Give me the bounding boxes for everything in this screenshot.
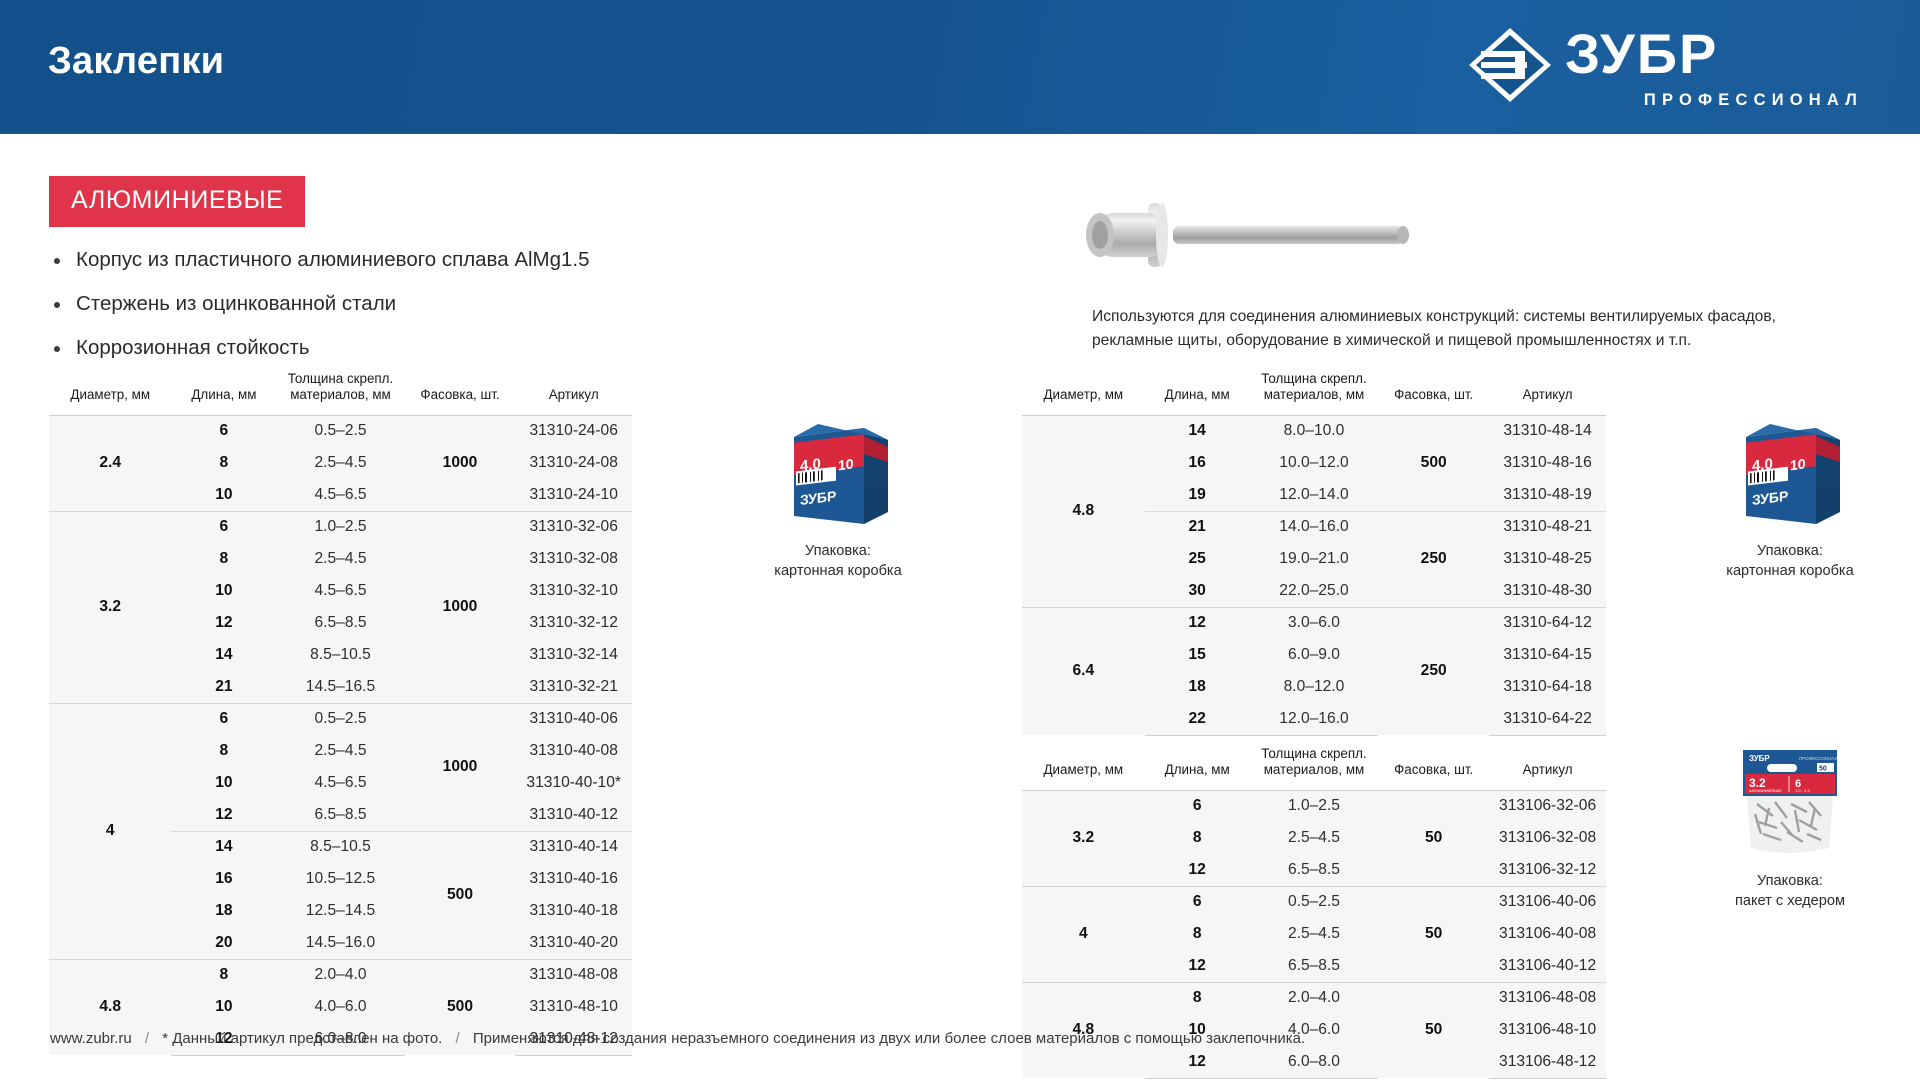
cell-length: 25: [1145, 543, 1250, 575]
cell-length: 8: [171, 735, 276, 767]
cell-thickness: 4.5–6.5: [276, 479, 404, 511]
cell-thickness: 10.5–12.5: [276, 863, 404, 895]
cell-diameter: 6.4: [1022, 607, 1145, 735]
package-caption: Упаковка: картонная коробка: [1690, 542, 1890, 582]
package-caption-line1: Упаковка:: [1690, 542, 1890, 562]
cell-thickness: 8.5–10.5: [276, 639, 404, 671]
package-caption-line1: Упаковка:: [1690, 872, 1890, 892]
cell-length: 6: [171, 415, 276, 447]
col-header-pack: Фасовка, шт.: [405, 367, 516, 415]
cell-length: 16: [1145, 447, 1250, 479]
cell-thickness: 6.0–8.0: [1250, 1046, 1378, 1078]
package-figure-carton-right: 4.0 10 ЗУБР Упаковка: картонная коробка: [1690, 412, 1890, 582]
svg-text:10: 10: [838, 456, 854, 474]
cell-article: 31310-48-19: [1489, 479, 1606, 511]
svg-text:ЗУБР: ЗУБР: [1565, 26, 1718, 84]
cell-thickness: 2.5–4.5: [1250, 918, 1378, 950]
cell-article: 313106-48-12: [1489, 1046, 1606, 1078]
cell-length: 10: [171, 575, 276, 607]
cell-thickness: 2.0–4.0: [276, 959, 404, 991]
package-caption: Упаковка: пакет с хедером: [1690, 872, 1890, 912]
cell-thickness: 2.5–4.5: [276, 735, 404, 767]
cell-article: 31310-32-14: [515, 639, 632, 671]
cell-thickness: 12.5–14.5: [276, 895, 404, 927]
cell-article: 31310-48-30: [1489, 575, 1606, 607]
footer-note-photo: * Данный артикул представлен на фото.: [162, 1030, 442, 1047]
cell-pack: 1000: [405, 511, 516, 703]
cell-thickness: 14.5–16.5: [276, 671, 404, 703]
col-header-diameter: Диаметр, мм: [49, 367, 171, 415]
footer-separator: /: [456, 1030, 460, 1047]
cell-thickness: 12.0–14.0: [1250, 479, 1378, 511]
cell-length: 12: [1145, 1046, 1250, 1078]
cell-article: 31310-48-16: [1489, 447, 1606, 479]
cell-length: 12: [1145, 950, 1250, 982]
cell-thickness: 4.5–6.5: [276, 767, 404, 799]
svg-text:ЗУБР: ЗУБР: [1749, 754, 1770, 763]
cell-thickness: 6.5–8.5: [1250, 854, 1378, 886]
bullet-icon: [54, 302, 60, 308]
spec-table-aluminium-large: Диаметр, ммДлина, ммТолщина скрепл.матер…: [1022, 367, 1606, 736]
cell-thickness: 14.5–16.0: [276, 927, 404, 959]
cell-thickness: 1.0–2.5: [276, 511, 404, 543]
feature-text: Корпус из пластичного алюминиевого сплав…: [76, 247, 590, 273]
cell-article: 31310-32-10: [515, 575, 632, 607]
product-description: Используются для соединения алюминиевых …: [1092, 305, 1852, 353]
list-item: Коррозионная стойкость: [52, 335, 692, 361]
bullet-icon: [54, 258, 60, 264]
cell-length: 30: [1145, 575, 1250, 607]
cell-thickness: 1.0–2.5: [1250, 790, 1378, 822]
col-header-article: Артикул: [515, 367, 632, 415]
svg-text:ПРОФЕССИОНАЛ: ПРОФЕССИОНАЛ: [1799, 756, 1838, 761]
cell-article: 31310-64-18: [1489, 671, 1606, 703]
cell-article: 313106-40-06: [1489, 886, 1606, 918]
cell-article: 31310-40-06: [515, 703, 632, 735]
cell-length: 6: [171, 703, 276, 735]
cell-length: 14: [171, 831, 276, 863]
cell-pack: 250: [1378, 511, 1489, 607]
zubr-wordmark-icon: ЗУБР: [1565, 26, 1865, 84]
cell-thickness: 6.0–9.0: [1250, 639, 1378, 671]
carton-box-icon: 4.0 10 ЗУБР: [776, 412, 901, 532]
cell-thickness: 8.0–10.0: [1250, 415, 1378, 447]
page-header: Заклепки ЗУБР ПРОФЕССИОНАЛ: [0, 0, 1920, 134]
cell-length: 8: [1145, 918, 1250, 950]
cell-pack: 500: [405, 831, 516, 959]
table-row: 3.261.0–2.550313106-32-06: [1022, 790, 1606, 822]
col-header-diameter: Диаметр, мм: [1022, 742, 1145, 790]
cell-length: 6: [171, 511, 276, 543]
cell-thickness: 4.0–6.0: [276, 991, 404, 1023]
col-header-pack: Фасовка, шт.: [1378, 742, 1489, 790]
cell-article: 31310-40-10*: [515, 767, 632, 799]
col-header-pack: Фасовка, шт.: [1378, 367, 1489, 415]
cell-article: 31310-40-08: [515, 735, 632, 767]
cell-article: 31310-48-08: [515, 959, 632, 991]
cell-thickness: 2.5–4.5: [1250, 822, 1378, 854]
cell-thickness: 0.5–2.5: [276, 703, 404, 735]
cell-pack: 250: [1378, 607, 1489, 735]
page-footer: www.zubr.ru / * Данный артикул представл…: [50, 1030, 1870, 1047]
cell-article: 313106-32-08: [1489, 822, 1606, 854]
package-caption-line2: картонная коробка: [1690, 562, 1890, 582]
cell-article: 31310-48-21: [1489, 511, 1606, 543]
footer-site-link[interactable]: www.zubr.ru: [50, 1030, 132, 1047]
col-header-article: Артикул: [1489, 367, 1606, 415]
cell-length: 8: [171, 543, 276, 575]
cell-thickness: 14.0–16.0: [1250, 511, 1378, 543]
cell-thickness: 8.5–10.5: [276, 831, 404, 863]
spec-table-aluminium-bag: Диаметр, ммДлина, ммТолщина скрепл.матер…: [1022, 742, 1606, 1079]
category-badge: АЛЮМИНИЕВЫЕ: [49, 176, 305, 227]
col-header-length: Длина, мм: [1145, 742, 1250, 790]
cell-thickness: 19.0–21.0: [1250, 543, 1378, 575]
cell-article: 31310-64-12: [1489, 607, 1606, 639]
table-row: 6.4123.0–6.025031310-64-12: [1022, 607, 1606, 639]
cell-diameter: 4: [49, 703, 171, 959]
header-bag-icon: ЗУБР ПРОФЕССИОНАЛ 50 3.2 АЛЮМИНИЕВЫЕ 6 1…: [1729, 742, 1851, 862]
cell-article: 31310-64-15: [1489, 639, 1606, 671]
cell-article: 31310-24-08: [515, 447, 632, 479]
cell-thickness: 6.5–8.5: [1250, 950, 1378, 982]
col-header-thickness: Толщина скрепл.материалов, мм: [1250, 367, 1378, 415]
cell-thickness: 10.0–12.0: [1250, 447, 1378, 479]
cell-pack: 1000: [405, 415, 516, 511]
cell-thickness: 0.5–2.5: [276, 415, 404, 447]
rivet-product-photo: [1078, 196, 1598, 276]
cell-thickness: 2.5–4.5: [276, 543, 404, 575]
cell-thickness: 22.0–25.0: [1250, 575, 1378, 607]
cell-article: 31310-24-06: [515, 415, 632, 447]
cell-article: 31310-40-16: [515, 863, 632, 895]
svg-text:АЛЮМИНИЕВЫЕ: АЛЮМИНИЕВЫЕ: [1749, 788, 1782, 793]
cell-thickness: 0.5–2.5: [1250, 886, 1378, 918]
table-row: 4.882.0–4.050031310-48-08: [49, 959, 632, 991]
col-header-thickness: Толщина скрепл.материалов, мм: [1250, 742, 1378, 790]
carton-box-icon: 4.0 10 ЗУБР: [1728, 412, 1853, 532]
svg-text:50: 50: [1819, 766, 1827, 773]
cell-diameter: 4.8: [1022, 415, 1145, 607]
footer-note-usage: Применяются для создания неразъемного со…: [473, 1030, 1305, 1047]
cell-length: 12: [171, 607, 276, 639]
package-caption-line2: пакет с хедером: [1690, 892, 1890, 912]
feature-list: Корпус из пластичного алюминиевого сплав…: [52, 247, 692, 380]
cell-diameter: 4: [1022, 886, 1145, 982]
cell-thickness: 8.0–12.0: [1250, 671, 1378, 703]
cell-diameter: 2.4: [49, 415, 171, 511]
cell-article: 313106-40-08: [1489, 918, 1606, 950]
cell-length: 18: [171, 895, 276, 927]
package-caption: Упаковка: картонная коробка: [738, 542, 938, 582]
cell-diameter: 3.2: [1022, 790, 1145, 886]
cell-article: 31310-40-20: [515, 927, 632, 959]
cell-length: 21: [171, 671, 276, 703]
col-header-length: Длина, мм: [171, 367, 276, 415]
zubr-diamond-icon: [1467, 26, 1553, 104]
bullet-icon: [54, 346, 60, 352]
cell-thickness: 12.0–16.0: [1250, 703, 1378, 735]
col-header-thickness: Толщина скрепл.материалов, мм: [276, 367, 404, 415]
cell-length: 21: [1145, 511, 1250, 543]
brand-subtitle: ПРОФЕССИОНАЛ: [1644, 91, 1863, 110]
cell-length: 14: [1145, 415, 1250, 447]
cell-article: 31310-48-10: [515, 991, 632, 1023]
cell-length: 8: [171, 959, 276, 991]
footer-separator: /: [145, 1030, 149, 1047]
feature-text: Стержень из оцинкованной стали: [76, 291, 396, 317]
cell-length: 6: [1145, 790, 1250, 822]
cell-length: 19: [1145, 479, 1250, 511]
cell-length: 10: [171, 767, 276, 799]
svg-text:10: 10: [1790, 456, 1806, 474]
cell-length: 14: [171, 639, 276, 671]
brand-logo: ЗУБР ПРОФЕССИОНАЛ: [1467, 26, 1865, 110]
cell-article: 31310-40-12: [515, 799, 632, 831]
cell-pack: 50: [1378, 886, 1489, 982]
cell-article: 313106-40-12: [1489, 950, 1606, 982]
cell-length: 15: [1145, 639, 1250, 671]
package-caption-line1: Упаковка:: [738, 542, 938, 562]
package-figure-bag: ЗУБР ПРОФЕССИОНАЛ 50 3.2 АЛЮМИНИЕВЫЕ 6 1…: [1690, 742, 1890, 912]
cell-length: 22: [1145, 703, 1250, 735]
cell-diameter: 3.2: [49, 511, 171, 703]
list-item: Корпус из пластичного алюминиевого сплав…: [52, 247, 692, 273]
cell-article: 31310-32-06: [515, 511, 632, 543]
cell-article: 31310-40-18: [515, 895, 632, 927]
cell-article: 313106-48-08: [1489, 982, 1606, 1014]
cell-pack: 1000: [405, 703, 516, 831]
cell-length: 20: [171, 927, 276, 959]
table-row: 3.261.0–2.5100031310-32-06: [49, 511, 632, 543]
package-caption-line2: картонная коробка: [738, 562, 938, 582]
cell-article: 31310-32-21: [515, 671, 632, 703]
cell-article: 31310-40-14: [515, 831, 632, 863]
feature-text: Коррозионная стойкость: [76, 335, 310, 361]
cell-length: 12: [1145, 854, 1250, 886]
table-row: 2.460.5–2.5100031310-24-06: [49, 415, 632, 447]
cell-length: 18: [1145, 671, 1250, 703]
cell-length: 10: [171, 991, 276, 1023]
cell-thickness: 3.0–6.0: [1250, 607, 1378, 639]
col-header-article: Артикул: [1489, 742, 1606, 790]
cell-length: 10: [171, 479, 276, 511]
cell-length: 16: [171, 863, 276, 895]
cell-article: 313106-32-12: [1489, 854, 1606, 886]
cell-length: 8: [171, 447, 276, 479]
cell-article: 31310-32-12: [515, 607, 632, 639]
svg-text:1.0 - 2.5: 1.0 - 2.5: [1795, 788, 1810, 793]
cell-thickness: 6.5–8.5: [276, 607, 404, 639]
cell-thickness: 2.5–4.5: [276, 447, 404, 479]
cell-thickness: 6.5–8.5: [276, 799, 404, 831]
col-header-diameter: Диаметр, мм: [1022, 367, 1145, 415]
cell-article: 31310-32-08: [515, 543, 632, 575]
package-figure-carton-left: 4.0 10 ЗУБР Упаковка: картонная коробка: [738, 412, 938, 582]
cell-thickness: 4.5–6.5: [276, 575, 404, 607]
table-row: 4.882.0–4.050313106-48-08: [1022, 982, 1606, 1014]
cell-article: 31310-48-25: [1489, 543, 1606, 575]
page-title: Заклепки: [48, 40, 224, 83]
cell-length: 12: [1145, 607, 1250, 639]
cell-length: 8: [1145, 822, 1250, 854]
cell-length: 12: [171, 799, 276, 831]
cell-pack: 50: [1378, 790, 1489, 886]
cell-pack: 500: [1378, 415, 1489, 511]
cell-length: 6: [1145, 886, 1250, 918]
cell-article: 313106-32-06: [1489, 790, 1606, 822]
cell-length: 8: [1145, 982, 1250, 1014]
col-header-length: Длина, мм: [1145, 367, 1250, 415]
cell-article: 31310-48-14: [1489, 415, 1606, 447]
table-row: 460.5–2.5100031310-40-06: [49, 703, 632, 735]
table-row: 460.5–2.550313106-40-06: [1022, 886, 1606, 918]
table-row: 4.8148.0–10.050031310-48-14: [1022, 415, 1606, 447]
cell-thickness: 2.0–4.0: [1250, 982, 1378, 1014]
cell-article: 31310-64-22: [1489, 703, 1606, 735]
list-item: Стержень из оцинкованной стали: [52, 291, 692, 317]
cell-article: 31310-24-10: [515, 479, 632, 511]
spec-table-aluminium-primary: Диаметр, ммДлина, ммТолщина скрепл.матер…: [49, 367, 632, 1056]
